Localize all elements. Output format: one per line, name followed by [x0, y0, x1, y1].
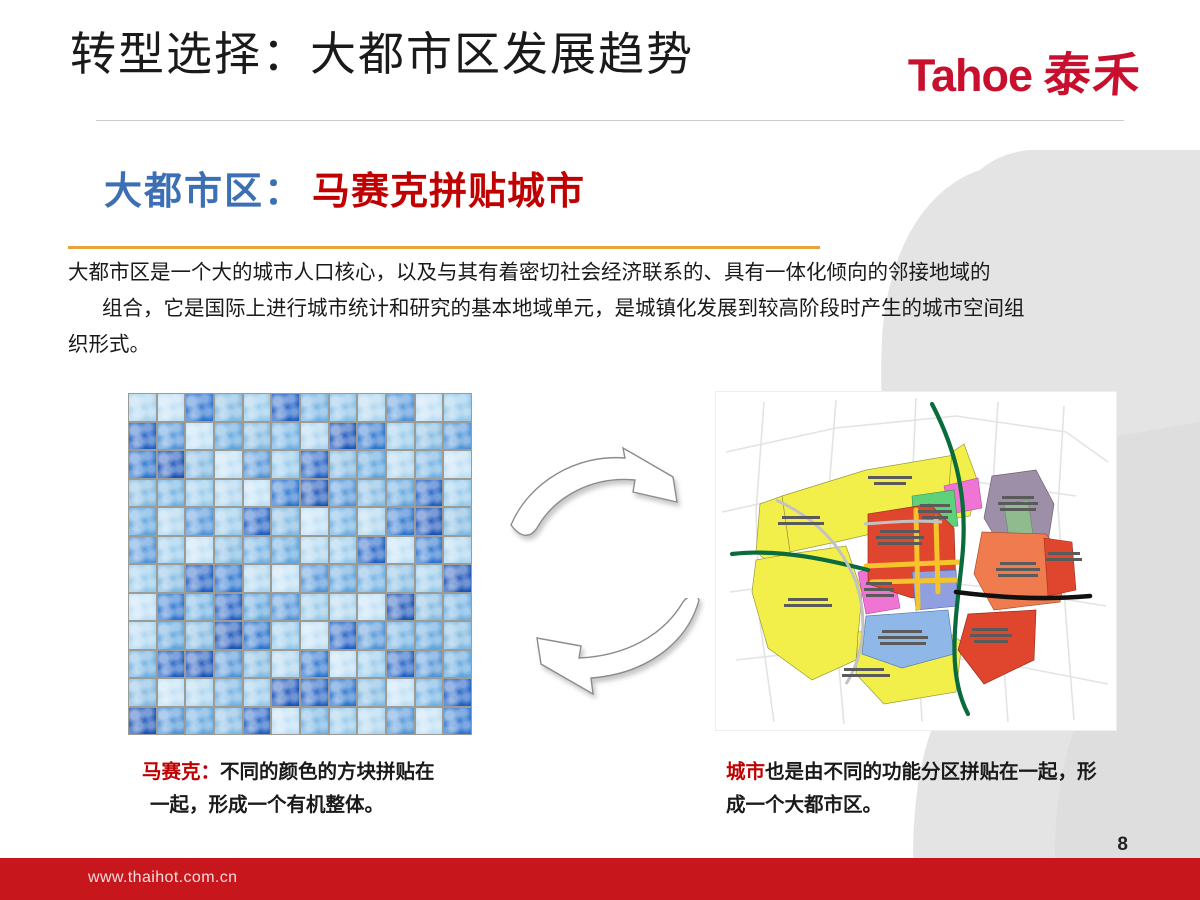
- mosaic-tile: [215, 651, 242, 678]
- mosaic-tile: [186, 679, 213, 706]
- mosaic-tile: [215, 679, 242, 706]
- mosaic-tile: [301, 622, 328, 649]
- mosaic-tile: [186, 423, 213, 450]
- mosaic-tile: [244, 537, 271, 564]
- mosaic-tile: [416, 565, 443, 592]
- mosaic-tile: [244, 451, 271, 478]
- mosaic-tile: [215, 594, 242, 621]
- mosaic-tile: [330, 394, 357, 421]
- mosaic-tile: [158, 594, 185, 621]
- mosaic-tile: [416, 508, 443, 535]
- mosaic-tile: [330, 423, 357, 450]
- body-line-3: 织形式。: [68, 327, 1136, 363]
- mosaic-tile: [416, 651, 443, 678]
- mosaic-tile: [387, 565, 414, 592]
- mosaic-tile: [416, 679, 443, 706]
- mosaic-tile: [129, 594, 156, 621]
- mosaic-tile: [301, 508, 328, 535]
- mosaic-tile: [330, 594, 357, 621]
- mosaic-tile: [387, 708, 414, 735]
- mosaic-tile: [186, 451, 213, 478]
- mosaic-tile: [358, 537, 385, 564]
- body-line-1: 大都市区是一个大的城市人口核心，以及与其有着密切社会经济联系的、具有一体化倾向的…: [68, 255, 1136, 291]
- city-caption-keyword: 城市: [726, 762, 765, 783]
- mosaic-tile: [444, 594, 471, 621]
- mosaic-tile: [330, 565, 357, 592]
- mosaic-tile: [272, 708, 299, 735]
- mosaic-tile: [444, 708, 471, 735]
- mosaic-tile: [387, 679, 414, 706]
- mosaic-tile: [444, 679, 471, 706]
- mosaic-tile: [416, 708, 443, 735]
- mosaic-tile: [330, 451, 357, 478]
- mosaic-tile: [158, 394, 185, 421]
- mosaic-tile: [416, 537, 443, 564]
- section-subtitle: 大都市区：马赛克拼贴城市: [104, 160, 585, 215]
- mosaic-tile: [186, 594, 213, 621]
- mosaic-tile: [244, 423, 271, 450]
- mosaic-tile: [186, 480, 213, 507]
- mosaic-tile: [387, 508, 414, 535]
- mosaic-tile: [215, 708, 242, 735]
- brand-logo-latin: Tahoe: [908, 50, 1032, 102]
- mosaic-tile: [244, 708, 271, 735]
- mosaic-tile: [387, 451, 414, 478]
- mosaic-tile: [244, 651, 271, 678]
- city-map-caption: 城市也是由不同的功能分区拼贴在一起，形 成一个大都市区。: [726, 756, 1146, 822]
- mosaic-tile: [358, 594, 385, 621]
- mosaic-tile: [129, 451, 156, 478]
- mosaic-tile: [158, 423, 185, 450]
- body-paragraph: 大都市区是一个大的城市人口核心，以及与其有着密切社会经济联系的、具有一体化倾向的…: [68, 255, 1136, 363]
- mosaic-tile: [301, 394, 328, 421]
- mosaic-tile: [358, 565, 385, 592]
- mosaic-tile: [444, 423, 471, 450]
- mosaic-tile: [129, 508, 156, 535]
- mosaic-tile: [215, 508, 242, 535]
- mosaic-tile: [301, 480, 328, 507]
- mosaic-tile: [301, 451, 328, 478]
- mosaic-tile: [158, 679, 185, 706]
- mosaic-tile: [186, 537, 213, 564]
- subtitle-prefix: 大都市区：: [104, 171, 304, 213]
- mosaic-tile: [129, 423, 156, 450]
- accent-divider-rule: [68, 246, 820, 249]
- mosaic-tile: [244, 679, 271, 706]
- mosaic-tile: [387, 423, 414, 450]
- mosaic-tile: [330, 651, 357, 678]
- mosaic-tile: [444, 508, 471, 535]
- mosaic-tile: [330, 679, 357, 706]
- mosaic-tile: [416, 423, 443, 450]
- mosaic-tile: [215, 394, 242, 421]
- body-line-2: 组合，它是国际上进行城市统计和研究的基本地域单元，是城镇化发展到较高阶段时产生的…: [68, 291, 1136, 327]
- footer-bar: www.thaihot.com.cn: [0, 858, 1200, 900]
- mosaic-tile: [158, 537, 185, 564]
- mosaic-tile: [129, 565, 156, 592]
- mosaic-tile: [272, 480, 299, 507]
- mosaic-tile: [416, 480, 443, 507]
- mosaic-tile: [444, 565, 471, 592]
- mosaic-tile: [272, 651, 299, 678]
- mosaic-tile: [186, 651, 213, 678]
- mosaic-tile: [444, 622, 471, 649]
- mosaic-caption-line-2: 一起，形成一个有机整体。: [142, 789, 502, 822]
- mosaic-tile: [129, 651, 156, 678]
- mosaic-tile: [272, 394, 299, 421]
- mosaic-tile: [330, 480, 357, 507]
- mosaic-tile: [444, 394, 471, 421]
- mosaic-caption-line-1: 不同的颜色的方块拼贴在: [220, 762, 435, 783]
- mosaic-tile: [158, 651, 185, 678]
- mosaic-tile: [387, 480, 414, 507]
- mosaic-tile: [158, 622, 185, 649]
- mosaic-tile: [301, 423, 328, 450]
- mosaic-tile: [358, 508, 385, 535]
- mosaic-tile: [158, 565, 185, 592]
- header-divider-rule: [96, 120, 1124, 121]
- mosaic-tile: [272, 594, 299, 621]
- subtitle-highlight: 马赛克拼贴城市: [312, 171, 585, 213]
- mosaic-tile: [129, 679, 156, 706]
- mosaic-tile: [186, 565, 213, 592]
- city-caption-line-2: 成一个大都市区。: [726, 789, 1146, 822]
- city-zoning-map-image: [716, 392, 1116, 730]
- mosaic-tile: [129, 622, 156, 649]
- mosaic-tile: [444, 451, 471, 478]
- mosaic-tile: [301, 679, 328, 706]
- mosaic-tile: [186, 622, 213, 649]
- mosaic-tile: [301, 651, 328, 678]
- mosaic-tile: [358, 394, 385, 421]
- mosaic-tile: [158, 480, 185, 507]
- mosaic-tile: [387, 394, 414, 421]
- mosaic-tile: [358, 708, 385, 735]
- mosaic-tile: [158, 451, 185, 478]
- mosaic-tile: [158, 508, 185, 535]
- mosaic-tile: [330, 508, 357, 535]
- mosaic-tile: [358, 651, 385, 678]
- mosaic-tile: [129, 480, 156, 507]
- mosaic-tile: [158, 708, 185, 735]
- mosaic-tile: [358, 679, 385, 706]
- mosaic-tile: [358, 480, 385, 507]
- mosaic-tile: [444, 651, 471, 678]
- mosaic-tile: [215, 480, 242, 507]
- mosaic-tile: [358, 622, 385, 649]
- mosaic-tile: [444, 480, 471, 507]
- mosaic-tile-grid: [128, 393, 472, 735]
- mosaic-tile: [387, 594, 414, 621]
- mosaic-tile: [129, 537, 156, 564]
- mosaic-tile: [358, 451, 385, 478]
- mosaic-tile: [387, 651, 414, 678]
- mosaic-tile: [272, 565, 299, 592]
- mosaic-tile: [330, 708, 357, 735]
- mosaic-tile: [330, 537, 357, 564]
- mosaic-tile: [358, 423, 385, 450]
- mosaic-tile: [244, 594, 271, 621]
- mosaic-tile: [244, 508, 271, 535]
- mosaic-tile: [301, 708, 328, 735]
- brand-logo-cjk: 泰禾: [1042, 36, 1145, 105]
- mosaic-tile: [416, 622, 443, 649]
- mosaic-tile: [129, 394, 156, 421]
- mosaic-tile: [301, 594, 328, 621]
- arrow-right-icon: [505, 440, 705, 570]
- mosaic-tile: [215, 565, 242, 592]
- mosaic-tile: [301, 565, 328, 592]
- mosaic-tile: [444, 537, 471, 564]
- mosaic-tile: [272, 537, 299, 564]
- page-number: 8: [1117, 834, 1128, 856]
- mosaic-tile: [387, 537, 414, 564]
- mosaic-tile: [244, 394, 271, 421]
- mosaic-tile: [129, 708, 156, 735]
- mosaic-tile: [244, 622, 271, 649]
- mosaic-tile: [272, 451, 299, 478]
- mosaic-tile: [330, 622, 357, 649]
- mosaic-tile-image: [128, 393, 472, 735]
- mosaic-tile: [244, 565, 271, 592]
- mosaic-tile: [272, 508, 299, 535]
- page-title: 转型选择：大都市区发展趋势: [70, 18, 694, 84]
- mosaic-tile: [215, 423, 242, 450]
- mosaic-tile: [301, 537, 328, 564]
- mosaic-tile: [272, 679, 299, 706]
- footer-website-url[interactable]: www.thaihot.com.cn: [88, 869, 237, 887]
- mosaic-tile: [272, 423, 299, 450]
- city-caption-line-1: 也是由不同的功能分区拼贴在一起，形: [765, 762, 1097, 783]
- mosaic-tile: [186, 508, 213, 535]
- mosaic-tile: [416, 451, 443, 478]
- mosaic-tile: [215, 622, 242, 649]
- mosaic-caption-keyword: 马赛克：: [142, 762, 220, 783]
- mosaic-tile: [416, 394, 443, 421]
- arrow-left-icon: [505, 598, 705, 720]
- mosaic-tile: [416, 594, 443, 621]
- mosaic-tile: [387, 622, 414, 649]
- mosaic-tile: [215, 537, 242, 564]
- brand-logo: Tahoe 泰禾: [908, 36, 1142, 105]
- mosaic-tile: [186, 394, 213, 421]
- mosaic-tile: [244, 480, 271, 507]
- mosaic-caption: 马赛克：不同的颜色的方块拼贴在 一起，形成一个有机整体。: [142, 756, 502, 822]
- mosaic-tile: [186, 708, 213, 735]
- mosaic-tile: [272, 622, 299, 649]
- mosaic-tile: [215, 451, 242, 478]
